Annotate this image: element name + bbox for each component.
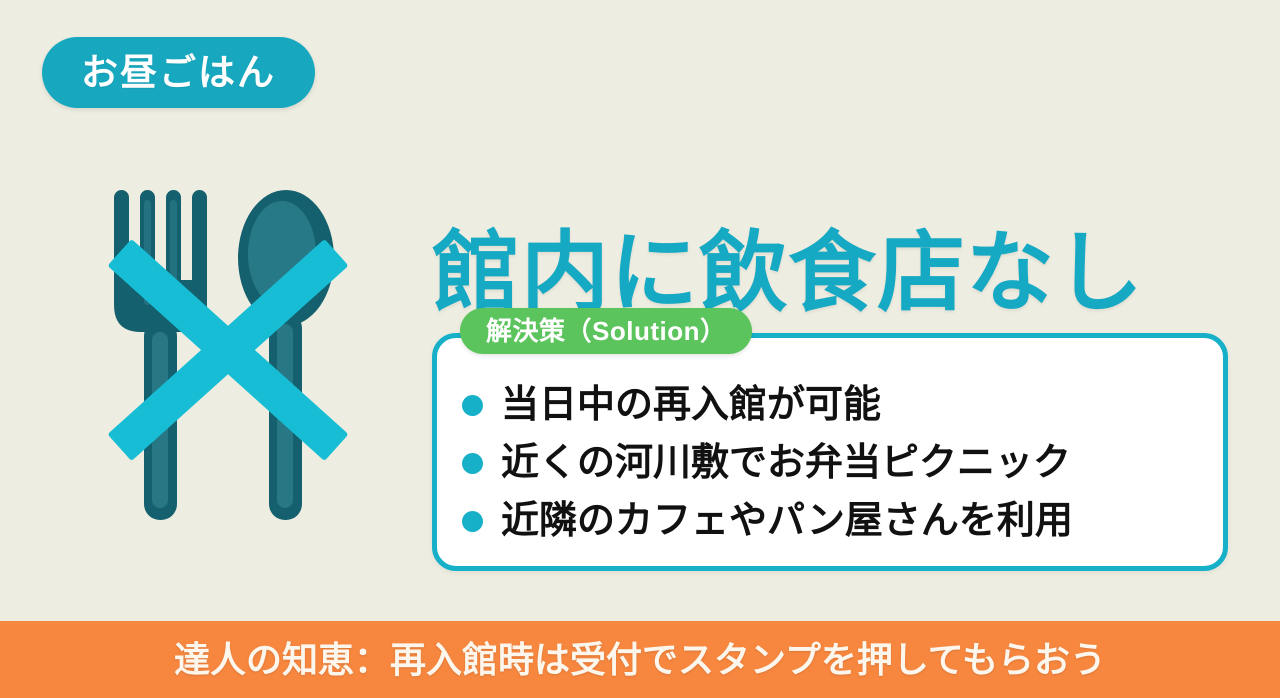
bullet-dot-icon xyxy=(462,511,483,532)
fork-shape xyxy=(114,190,207,520)
solution-label-text: 解決策（Solution） xyxy=(486,318,726,344)
bullet-dot-icon xyxy=(462,395,483,416)
list-item-label: 近隣のカフェやパン屋さんを利用 xyxy=(501,502,1073,540)
bottom-tip-banner: 達人の知恵：再入館時は受付でスタンプを押してもらおう xyxy=(0,621,1280,698)
list-item: 当日中の再入館が可能 xyxy=(462,376,1222,434)
solution-list: 当日中の再入館が可能 近くの河川敷でお弁当ピクニック 近隣のカフェやパン屋さんを… xyxy=(462,376,1222,550)
list-item-label: 当日中の再入館が可能 xyxy=(501,386,881,424)
solution-label-pill: 解決策（Solution） xyxy=(460,308,752,354)
x-cross-mark xyxy=(107,239,348,461)
page-title: 館内に飲食店なし xyxy=(432,227,1232,319)
category-badge: お昼ごはん xyxy=(42,37,315,108)
crossed-out-cutlery-icon xyxy=(68,160,388,540)
list-item: 近くの河川敷でお弁当ピクニック xyxy=(462,434,1222,492)
list-item: 近隣のカフェやパン屋さんを利用 xyxy=(462,492,1222,550)
bottom-tip-text: 達人の知恵：再入館時は受付でスタンプを押してもらおう xyxy=(174,642,1106,678)
category-badge-label: お昼ごはん xyxy=(81,54,276,91)
list-item-label: 近くの河川敷でお弁当ピクニック xyxy=(501,444,1071,482)
slide-canvas: お昼ごはん xyxy=(0,0,1280,698)
bullet-dot-icon xyxy=(462,453,483,474)
